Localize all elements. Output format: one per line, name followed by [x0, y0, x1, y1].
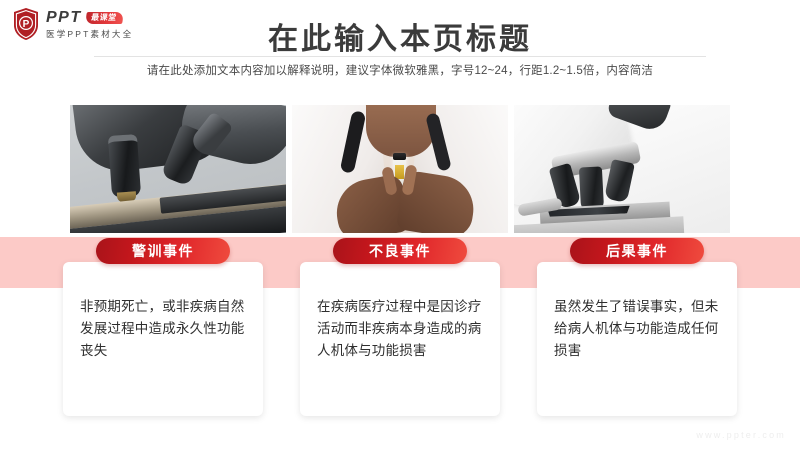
card-body-text: 非预期死亡，或非疾病自然发展过程中造成永久性功能丧失: [80, 296, 250, 362]
card-badge: 警训事件: [96, 238, 230, 264]
page-subtitle: 请在此处添加文本内容加以解释说明，建议字体微软雅黑，字号12~24，行距1.2~…: [0, 62, 800, 78]
card-houguo[interactable]: 后果事件 虽然发生了错误事实，但未给病人机体与功能造成任何损害: [537, 262, 737, 416]
card-body-text: 虽然发生了错误事实，但未给病人机体与功能造成任何损害: [554, 296, 724, 362]
page-title: 在此输入本页标题: [0, 14, 800, 58]
photo-dark-microscope: [70, 105, 286, 233]
photo-white-microscope: [514, 105, 730, 233]
photo-doctor-vial: [292, 105, 508, 233]
card-group: 警训事件 非预期死亡，或非疾病自然发展过程中造成永久性功能丧失 不良事件 在疾病…: [63, 262, 737, 417]
card-body-text: 在疾病医疗过程中是因诊疗活动而非疾病本身造成的病人机体与功能损害: [317, 296, 487, 362]
card-badge: 不良事件: [333, 238, 467, 264]
card-jingxun[interactable]: 警训事件 非预期死亡，或非疾病自然发展过程中造成永久性功能丧失: [63, 262, 263, 416]
photo-strip: [70, 105, 730, 233]
slide-root: P PPT 最课堂 医学PPT素材大全 在此输入本页标题 请在此处添加文本内容加…: [0, 0, 800, 450]
watermark: www.ppter.com: [696, 430, 786, 440]
title-divider: [94, 56, 706, 57]
card-badge: 后果事件: [570, 238, 704, 264]
card-buliang[interactable]: 不良事件 在疾病医疗过程中是因诊疗活动而非疾病本身造成的病人机体与功能损害: [300, 262, 500, 416]
